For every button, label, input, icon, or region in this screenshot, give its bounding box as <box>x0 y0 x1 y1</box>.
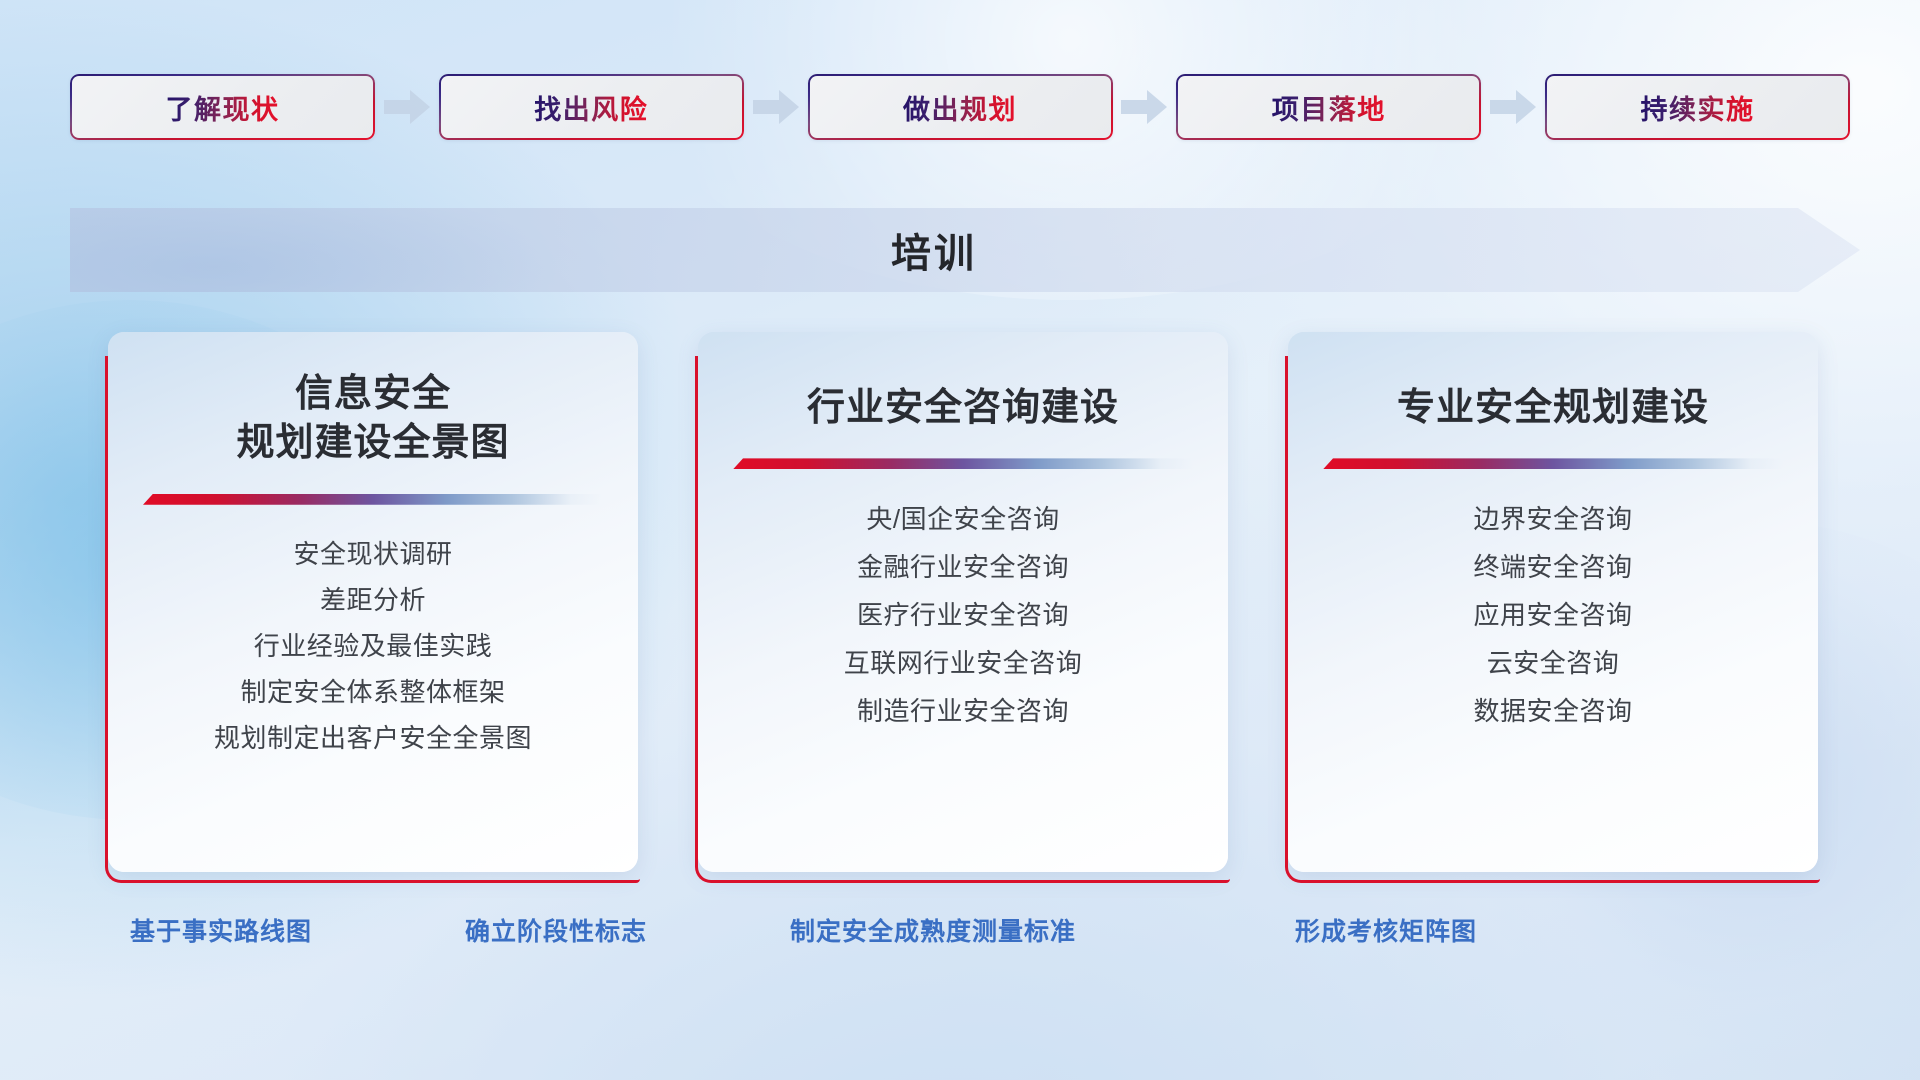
service-card-2-divider-bar <box>733 458 1193 469</box>
process-arrow-4 <box>1481 87 1545 127</box>
process-step-4-label: 项目落地 <box>1272 88 1386 127</box>
list-item: 金融行业安全咨询 <box>728 543 1198 591</box>
list-item: 互联网行业安全咨询 <box>728 639 1198 687</box>
service-card-3-list: 边界安全咨询 终端安全咨询 应用安全咨询 云安全咨询 数据安全咨询 <box>1318 495 1788 735</box>
service-card-1-title-line2: 规划建设全景图 <box>236 419 509 468</box>
slide-canvas: 了解现状 找出风险 做出规划 项目落地 <box>0 0 1920 1080</box>
service-card-1-body: 信息安全 规划建设全景图 安全现状调研 差距分析 行业经验及最佳实践 制定安全体… <box>108 332 638 872</box>
service-card-1-divider-bar <box>143 494 603 505</box>
service-card-3-divider-bar <box>1323 458 1783 469</box>
service-card-1-divider <box>143 491 603 507</box>
list-item: 央/国企安全咨询 <box>728 495 1198 543</box>
process-step-1-label: 了解现状 <box>166 88 280 127</box>
service-card-2-list: 央/国企安全咨询 金融行业安全咨询 医疗行业安全咨询 互联网行业安全咨询 制造行… <box>728 495 1198 735</box>
process-step-3[interactable]: 做出规划 <box>808 74 1113 140</box>
list-item: 规划制定出客户安全全景图 <box>138 715 608 761</box>
list-item: 医疗行业安全咨询 <box>728 591 1198 639</box>
list-item: 制造行业安全咨询 <box>728 687 1198 735</box>
caption-3: 制定安全成熟度测量标准 <box>790 912 1076 948</box>
service-card-1-list: 安全现状调研 差距分析 行业经验及最佳实践 制定安全体系整体框架 规划制定出客户… <box>138 531 608 761</box>
process-step-1[interactable]: 了解现状 <box>70 74 375 140</box>
service-card-3-title: 专业安全规划建设 <box>1397 384 1709 433</box>
service-card-group: 信息安全 规划建设全景图 安全现状调研 差距分析 行业经验及最佳实践 制定安全体… <box>108 332 1818 872</box>
service-card-1[interactable]: 信息安全 规划建设全景图 安全现状调研 差距分析 行业经验及最佳实践 制定安全体… <box>108 332 638 872</box>
caption-4: 形成考核矩阵图 <box>1295 912 1477 948</box>
service-card-3-body: 专业安全规划建设 边界安全咨询 终端安全咨询 应用安全咨询 云安全咨询 数据安全… <box>1288 332 1818 872</box>
list-item: 数据安全咨询 <box>1318 687 1788 735</box>
list-item: 终端安全咨询 <box>1318 543 1788 591</box>
process-step-4[interactable]: 项目落地 <box>1176 74 1481 140</box>
list-item: 行业经验及最佳实践 <box>138 623 608 669</box>
service-card-1-title-line1: 信息安全 <box>236 370 509 419</box>
service-card-3[interactable]: 专业安全规划建设 边界安全咨询 终端安全咨询 应用安全咨询 云安全咨询 数据安全… <box>1288 332 1818 872</box>
training-banner-title: 培训 <box>70 208 1798 292</box>
process-step-2[interactable]: 找出风险 <box>439 74 744 140</box>
list-item: 边界安全咨询 <box>1318 495 1788 543</box>
service-card-3-title-line1: 专业安全规划建设 <box>1397 384 1709 433</box>
process-step-5-label: 持续实施 <box>1641 88 1755 127</box>
caption-1: 基于事实路线图 <box>130 912 312 948</box>
service-card-2-title: 行业安全咨询建设 <box>807 384 1119 433</box>
process-step-5[interactable]: 持续实施 <box>1545 74 1850 140</box>
process-arrow-1 <box>375 87 439 127</box>
process-arrow-2 <box>744 87 808 127</box>
list-item: 制定安全体系整体框架 <box>138 669 608 715</box>
service-card-1-title: 信息安全 规划建设全景图 <box>236 370 509 469</box>
list-item: 差距分析 <box>138 577 608 623</box>
service-card-3-divider <box>1323 455 1783 471</box>
process-step-3-label: 做出规划 <box>903 88 1017 127</box>
list-item: 云安全咨询 <box>1318 639 1788 687</box>
caption-2: 确立阶段性标志 <box>465 912 647 948</box>
service-card-2-body: 行业安全咨询建设 央/国企安全咨询 金融行业安全咨询 医疗行业安全咨询 互联网行… <box>698 332 1228 872</box>
process-step-row: 了解现状 找出风险 做出规划 项目落地 <box>70 72 1850 142</box>
list-item: 安全现状调研 <box>138 531 608 577</box>
process-step-2-label: 找出风险 <box>534 88 648 127</box>
service-card-2-title-line1: 行业安全咨询建设 <box>807 384 1119 433</box>
caption-row: 基于事实路线图 确立阶段性标志 制定安全成熟度测量标准 形成考核矩阵图 <box>0 912 1920 962</box>
service-card-2[interactable]: 行业安全咨询建设 央/国企安全咨询 金融行业安全咨询 医疗行业安全咨询 互联网行… <box>698 332 1228 872</box>
process-arrow-3 <box>1113 87 1177 127</box>
training-banner: 培训 <box>70 208 1860 292</box>
list-item: 应用安全咨询 <box>1318 591 1788 639</box>
service-card-2-divider <box>733 455 1193 471</box>
